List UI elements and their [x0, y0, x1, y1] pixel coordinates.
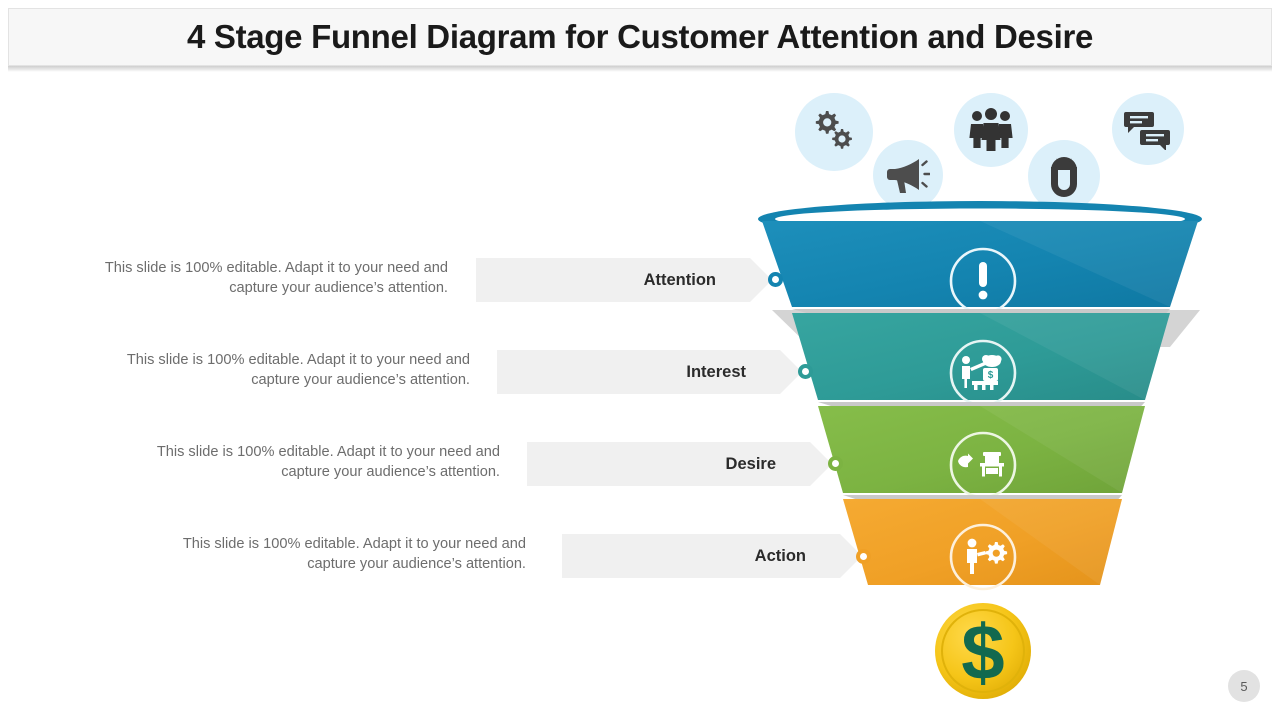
stage-description-interest: This slide is 100% editable. Adapt it to…: [100, 351, 470, 390]
header-shadow-strip: [8, 66, 1272, 72]
funnel-stage-attention[interactable]: [758, 201, 1202, 313]
connector-dot-desire: [828, 456, 843, 471]
stage-description-desire: This slide is 100% editable. Adapt it to…: [130, 443, 500, 482]
connector-dot-action: [856, 549, 871, 564]
coin-dollar-symbol: $: [961, 608, 1004, 696]
stage-description-attention: This slide is 100% editable. Adapt it to…: [78, 259, 448, 298]
page-title: 4 Stage Funnel Diagram for Customer Atte…: [187, 18, 1093, 56]
dollar-coin[interactable]: $: [935, 603, 1031, 699]
svg-text:$: $: [988, 370, 994, 381]
funnel-stage-action[interactable]: [843, 499, 1122, 589]
connector-dot-interest: [798, 364, 813, 379]
page-number-badge: 5: [1228, 670, 1260, 702]
funnel-stage-desire[interactable]: [818, 406, 1145, 497]
funnel-stage-interest[interactable]: $: [792, 313, 1170, 405]
stage-description-action: This slide is 100% editable. Adapt it to…: [156, 535, 526, 574]
connector-dot-attention: [768, 272, 783, 287]
funnel-diagram: $: [700, 85, 1260, 705]
header-band: 4 Stage Funnel Diagram for Customer Atte…: [8, 8, 1272, 66]
